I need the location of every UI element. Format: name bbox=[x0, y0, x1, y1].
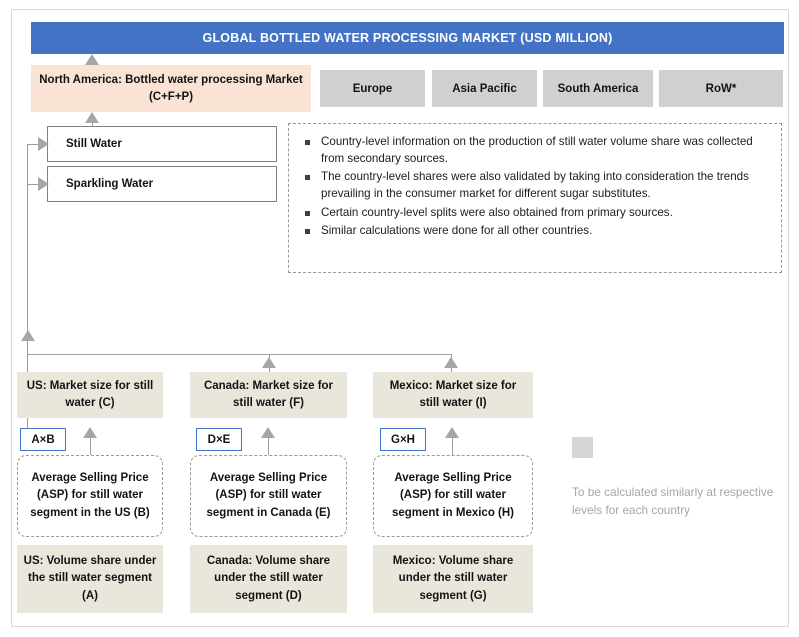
legend-swatch bbox=[572, 437, 593, 458]
asp-box-canada: Average Selling Price (ASP) for still wa… bbox=[190, 455, 347, 537]
formula-badge-canada-label: D×E bbox=[208, 434, 231, 446]
arrow-still-to-na bbox=[85, 112, 99, 123]
region-box-south-america: South America bbox=[543, 70, 653, 107]
region-box-north-america: North America: Bottled water processing … bbox=[31, 65, 311, 112]
asp-box-canada-label: Average Selling Price (ASP) for still wa… bbox=[199, 470, 338, 522]
asp-box-mexico-label: Average Selling Price (ASP) for still wa… bbox=[382, 470, 524, 522]
volume-share-box-us: US: Volume share under the still water s… bbox=[17, 545, 163, 613]
methodology-note-item: The country-level shares were also valid… bbox=[299, 169, 769, 202]
methodology-note-item: Similar calculations were done for all o… bbox=[299, 223, 769, 240]
asp-box-us: Average Selling Price (ASP) for still wa… bbox=[17, 455, 163, 537]
methodology-note-item: Certain country-level splits were also o… bbox=[299, 205, 769, 222]
formula-badge-us: A×B bbox=[20, 428, 66, 451]
region-box-asia-pacific: Asia Pacific bbox=[432, 70, 537, 107]
region-box-row-label: RoW* bbox=[706, 83, 737, 95]
connector-country-bus bbox=[27, 354, 451, 355]
global-market-header: GLOBAL BOTTLED WATER PROCESSING MARKET (… bbox=[31, 22, 784, 54]
region-box-south-america-label: South America bbox=[558, 83, 639, 95]
methodology-note-item: Country-level information on the product… bbox=[299, 134, 769, 167]
arrow-spine-to-still bbox=[38, 137, 49, 151]
formula-badge-canada: D×E bbox=[196, 428, 242, 451]
connector-asp-us-line bbox=[90, 438, 91, 456]
volume-share-box-mexico-label: Mexico: Volume share under the still wat… bbox=[379, 553, 527, 605]
volume-share-box-mexico: Mexico: Volume share under the still wat… bbox=[373, 545, 533, 613]
market-size-box-canada-label: Canada: Market size for still water (F) bbox=[196, 378, 341, 411]
volume-share-box-canada-label: Canada: Volume share under the still wat… bbox=[196, 553, 341, 605]
formula-badge-mexico: G×H bbox=[380, 428, 426, 451]
volume-share-box-canada: Canada: Volume share under the still wat… bbox=[190, 545, 347, 613]
legend-text: To be calculated similarly at respective… bbox=[572, 484, 787, 519]
formula-badge-us-label: A×B bbox=[31, 434, 54, 446]
arrow-asp-mexico-to-market-size bbox=[445, 427, 459, 438]
market-size-box-canada: Canada: Market size for still water (F) bbox=[190, 372, 347, 418]
arrow-asp-canada-to-market-size bbox=[261, 427, 275, 438]
region-box-europe: Europe bbox=[320, 70, 425, 107]
connector-spine-upper bbox=[27, 144, 28, 341]
asp-box-us-label: Average Selling Price (ASP) for still wa… bbox=[26, 470, 154, 522]
type-box-sparkling-water-label: Sparkling Water bbox=[66, 178, 153, 190]
market-size-box-us: US: Market size for still water (C) bbox=[17, 372, 163, 418]
market-size-box-us-label: US: Market size for still water (C) bbox=[23, 378, 157, 411]
volume-share-box-us-label: US: Volume share under the still water s… bbox=[23, 553, 157, 605]
type-box-still-water: Still Water bbox=[47, 126, 277, 162]
arrow-spine-top bbox=[21, 330, 35, 341]
methodology-note-list: Country-level information on the product… bbox=[299, 134, 769, 240]
arrow-spine-to-sparkling bbox=[38, 177, 49, 191]
region-box-europe-label: Europe bbox=[353, 83, 393, 95]
market-size-box-mexico: Mexico: Market size for still water (I) bbox=[373, 372, 533, 418]
asp-box-mexico: Average Selling Price (ASP) for still wa… bbox=[373, 455, 533, 537]
region-box-north-america-label: North America: Bottled water processing … bbox=[39, 72, 303, 105]
connector-bus-drop-us bbox=[27, 354, 28, 374]
region-box-row: RoW* bbox=[659, 70, 783, 107]
region-box-asia-pacific-label: Asia Pacific bbox=[452, 83, 517, 95]
type-box-sparkling-water: Sparkling Water bbox=[47, 166, 277, 202]
methodology-note-box: Country-level information on the product… bbox=[288, 123, 782, 273]
arrow-bus-to-mexico bbox=[444, 357, 458, 368]
global-market-header-label: GLOBAL BOTTLED WATER PROCESSING MARKET (… bbox=[203, 31, 613, 45]
arrow-na-to-header bbox=[85, 54, 99, 65]
connector-asp-canada-line bbox=[268, 438, 269, 456]
market-size-box-mexico-label: Mexico: Market size for still water (I) bbox=[379, 378, 527, 411]
arrow-bus-to-canada bbox=[262, 357, 276, 368]
arrow-asp-us-to-market-size bbox=[83, 427, 97, 438]
connector-asp-mexico-line bbox=[452, 438, 453, 456]
formula-badge-mexico-label: G×H bbox=[391, 434, 415, 446]
type-box-still-water-label: Still Water bbox=[66, 138, 122, 150]
diagram-canvas: GLOBAL BOTTLED WATER PROCESSING MARKET (… bbox=[0, 0, 799, 637]
